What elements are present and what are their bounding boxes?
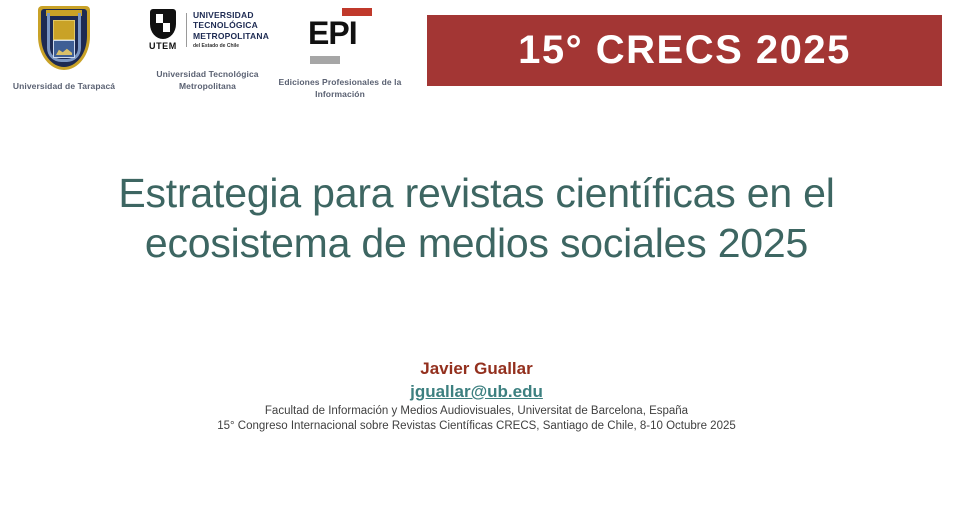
- logo-universidad-de-tarapaca: Universidad de Tarapacá: [8, 0, 120, 92]
- logo-caption-epi-line-2: Información: [270, 88, 410, 100]
- event-details: 15° Congreso Internacional sobre Revista…: [0, 419, 953, 434]
- utem-lockup: UTEM UNIVERSIDAD TECNOLÓGICA METROPOLITA…: [120, 0, 295, 60]
- utem-wordmark: UTEM: [146, 41, 180, 51]
- utem-subtitle: del Estado de Chile: [193, 42, 269, 50]
- author-block: Javier Guallar jguallar@ub.edu Facultad …: [0, 358, 953, 434]
- author-email-link[interactable]: jguallar@ub.edu: [410, 380, 543, 404]
- logo-caption-utem-line-1: Universidad Tecnológica: [120, 68, 295, 80]
- logo-caption-tarapaca: Universidad de Tarapacá: [8, 80, 120, 92]
- crest-lower-panel: [53, 40, 75, 58]
- author-name: Javier Guallar: [0, 358, 953, 380]
- crecs-event-banner: 15° CRECS 2025: [427, 15, 942, 86]
- epi-gray-bar: [310, 56, 340, 64]
- author-email-row: jguallar@ub.edu: [0, 380, 953, 404]
- crest-upper-panel: [53, 20, 75, 40]
- title-block: Estrategia para revistas científicas en …: [0, 168, 953, 268]
- utem-name-line-3: METROPOLITANA: [193, 31, 269, 42]
- utem-name-block: UNIVERSIDAD TECNOLÓGICA METROPOLITANA de…: [193, 10, 269, 51]
- presentation-title: Estrategia para revistas científicas en …: [0, 168, 953, 268]
- utem-name-line-2: TECNOLÓGICA: [193, 20, 269, 31]
- utem-shield-icon: [150, 9, 176, 39]
- utem-mark: UTEM: [146, 9, 180, 51]
- epi-mark-icon: EPI: [308, 8, 372, 64]
- logo-ediciones-profesionales-de-la-informacion: EPI Ediciones Profesionales de la Inform…: [270, 0, 410, 100]
- logo-caption-epi-line-1: Ediciones Profesionales de la: [270, 76, 410, 88]
- logo-caption-utem-line-2: Metropolitana: [120, 80, 295, 92]
- tarapaca-crest-icon: [38, 6, 90, 70]
- utem-name-line-1: UNIVERSIDAD: [193, 10, 269, 21]
- author-affiliation: Facultad de Información y Medios Audiovi…: [0, 404, 953, 419]
- epi-lettermark: EPI: [308, 18, 357, 48]
- sponsor-logo-strip: Universidad de Tarapacá UTEM UNIVERSIDAD…: [0, 0, 430, 110]
- utem-divider: [186, 13, 187, 47]
- logo-universidad-tecnologica-metropolitana: UTEM UNIVERSIDAD TECNOLÓGICA METROPOLITA…: [120, 0, 295, 92]
- crecs-banner-title: 15° CRECS 2025: [518, 28, 851, 73]
